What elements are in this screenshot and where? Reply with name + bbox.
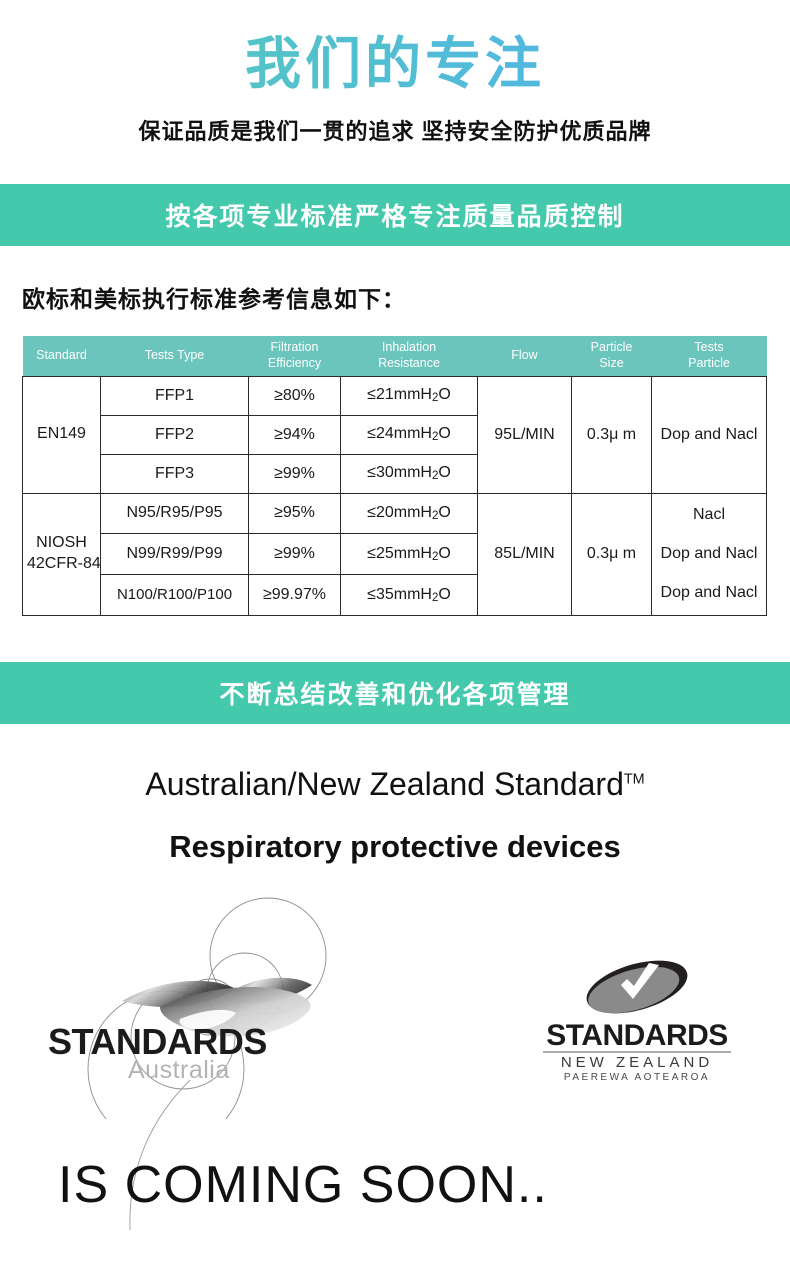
cell-resistance-value: ≤30mmH [367, 464, 432, 481]
cell-type: N100/R100/P100 [101, 574, 249, 615]
col-tests-type: Tests Type [101, 336, 249, 376]
page-title: 我们的专注 [0, 0, 790, 92]
standards-table: Standard Tests Type Filtration Efficienc… [22, 336, 767, 616]
banner-quality-control: 按各项专业标准严格专注质量品质控制 [0, 184, 790, 246]
cell-tests-particle-line3: Dop and Nacl [656, 574, 762, 613]
cell-resistance: ≤20mmH2O [341, 493, 478, 534]
table-header-row: Standard Tests Type Filtration Efficienc… [23, 336, 767, 376]
cell-filtration: ≥99% [249, 454, 341, 493]
cell-particle-size: 0.3μ m [572, 493, 652, 615]
col-inhalation-line2: Resistance [343, 356, 476, 372]
col-tests-particle-line2: Particle [654, 356, 765, 372]
col-filtration-line1: Filtration [251, 340, 339, 356]
cell-resistance: ≤35mmH2O [341, 574, 478, 615]
cell-tests-particle: Dop and Nacl [652, 376, 767, 493]
cell-type: N99/R99/P99 [101, 534, 249, 575]
standards-nz-subword: NEW ZEALAND [561, 1054, 713, 1071]
cell-type: FFP3 [101, 454, 249, 493]
col-particle-size: Particle Size [572, 336, 652, 376]
trademark-icon: TM [624, 771, 645, 787]
col-flow-line1: Flow [480, 348, 570, 364]
cell-particle-size: 0.3μ m [572, 376, 652, 493]
cell-standard-niosh-line1: NIOSH [27, 533, 96, 554]
cell-resistance: ≤25mmH2O [341, 534, 478, 575]
cell-flow: 95L/MIN [478, 376, 572, 493]
cell-filtration: ≥99% [249, 534, 341, 575]
col-filtration-line2: Efficiency [251, 356, 339, 372]
cell-tests-particle-stack: Nacl Dop and Nacl Dop and Nacl [652, 493, 767, 615]
cell-resistance-value: ≤25mmH [367, 545, 432, 562]
coming-soon-text: IS COMING SOON.. [58, 1155, 548, 1215]
standards-new-zealand-logo: STANDARDS NEW ZEALAND PAEREWA AOTEAROA [515, 957, 760, 1082]
col-tests-particle-line1: Tests [654, 340, 765, 356]
cell-resistance: ≤21mmH2O [341, 376, 478, 415]
banner-continuous-improvement: 不断总结改善和优化各项管理 [0, 662, 790, 724]
nz-emblem [579, 957, 693, 1023]
table-row: NIOSH 42CFR-84 N95/R95/P95 ≥95% ≤20mmH2O… [23, 493, 767, 534]
cell-resistance-tail: O [438, 464, 450, 481]
banner-continuous-improvement-label: 不断总结改善和优化各项管理 [219, 675, 570, 711]
banner-quality-control-label: 按各项专业标准严格专注质量品质控制 [165, 197, 624, 233]
cell-filtration: ≥80% [249, 376, 341, 415]
cell-resistance-tail: O [438, 545, 450, 562]
cell-tests-particle-line1: Nacl [656, 496, 762, 535]
cell-resistance-value: ≤21mmH [367, 386, 432, 403]
cell-resistance-tail: O [438, 386, 450, 403]
standards-australia-logo: STANDARDS Australia [40, 879, 370, 1119]
col-inhalation-line1: Inhalation [343, 340, 476, 356]
col-inhalation-resistance: Inhalation Resistance [341, 336, 478, 376]
col-particle-size-line1: Particle [574, 340, 650, 356]
standards-table-wrap: Standard Tests Type Filtration Efficienc… [22, 336, 766, 616]
cell-resistance-tail: O [438, 586, 450, 603]
cell-resistance-value: ≤20mmH [367, 504, 432, 521]
cell-type: FFP1 [101, 376, 249, 415]
cell-filtration: ≥95% [249, 493, 341, 534]
section-lead-standards: 欧标和美标执行标准参考信息如下： [22, 280, 790, 314]
standards-nz-maori-word: PAEREWA AOTEAROA [564, 1072, 710, 1082]
cell-filtration: ≥94% [249, 415, 341, 454]
cell-resistance-value: ≤35mmH [367, 586, 432, 603]
standards-nz-wordmark: STANDARDS [546, 1019, 728, 1052]
col-tests-type-line1: Tests Type [103, 348, 247, 364]
cell-resistance-tail: O [438, 425, 450, 442]
cell-tests-particle-line2: Dop and Nacl [656, 535, 762, 574]
standards-australia-subword: Australia [128, 1056, 230, 1084]
cell-type: FFP2 [101, 415, 249, 454]
col-tests-particle: Tests Particle [652, 336, 767, 376]
anz-standard-title-text: Australian/New Zealand Standard [145, 766, 624, 802]
cell-resistance-value: ≤24mmH [367, 425, 432, 442]
anz-standard-title: Australian/New Zealand StandardTM [0, 766, 790, 803]
cell-standard-niosh-line2: 42CFR-84 [27, 554, 96, 575]
page-subtitle: 保证品质是我们一贯的追求 坚持安全防护优质品牌 [0, 114, 790, 146]
col-standard-line1: Standard [25, 348, 99, 364]
cell-flow: 85L/MIN [478, 493, 572, 615]
cell-standard-niosh: NIOSH 42CFR-84 [23, 493, 101, 615]
col-flow: Flow [478, 336, 572, 376]
cell-type: N95/R95/P95 [101, 493, 249, 534]
logo-row: STANDARDS Australia STANDARDS NEW ZEALAN… [0, 879, 790, 1119]
col-standard: Standard [23, 336, 101, 376]
cell-resistance: ≤24mmH2O [341, 415, 478, 454]
cell-standard-en149: EN149 [23, 376, 101, 493]
cell-filtration: ≥99.97% [249, 574, 341, 615]
cell-resistance: ≤30mmH2O [341, 454, 478, 493]
col-filtration-efficiency: Filtration Efficiency [249, 336, 341, 376]
anz-standard-subtitle: Respiratory protective devices [0, 829, 790, 865]
table-row: EN149 FFP1 ≥80% ≤21mmH2O 95L/MIN 0.3μ m … [23, 376, 767, 415]
col-particle-size-line2: Size [574, 356, 650, 372]
cell-resistance-tail: O [438, 504, 450, 521]
